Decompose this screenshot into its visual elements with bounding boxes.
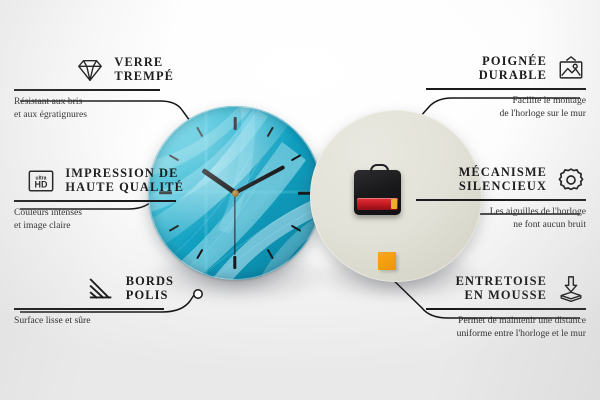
feature-desc-line-1: Les aiguilles de l'horloge	[416, 205, 586, 219]
feature-title-line-2: EN MOUSSE	[456, 289, 547, 303]
product-infographic: VERRE TREMPÉ Résistant aux bris et aux é…	[0, 0, 600, 400]
battery	[357, 198, 398, 210]
feature-verre-trempe: VERRE TREMPÉ Résistant aux bris et aux é…	[14, 56, 174, 122]
picture-hanger-icon	[556, 55, 586, 83]
feature-desc-line-1: Résistant aux bris	[14, 95, 174, 109]
feature-title-line-1: IMPRESSION DE	[65, 167, 184, 181]
ultra-hd-icon-bottom-text: HD	[35, 180, 48, 190]
feature-desc-line-1: Couleurs intenses	[14, 206, 184, 220]
feature-title-line-2: HAUTE QUALITÉ	[65, 181, 184, 195]
feature-desc-line-2: uniforme entre l'horloge et le mur	[426, 327, 586, 341]
gear-icon	[556, 166, 586, 194]
feature-rule	[416, 199, 586, 201]
feature-title-line-2: DURABLE	[479, 69, 547, 83]
feature-rule	[14, 89, 160, 91]
feature-desc-line-1: Surface lisse et sûre	[14, 314, 174, 328]
diamond-icon	[75, 56, 105, 84]
feature-desc-line-1: Facilite le montage	[426, 94, 586, 108]
feature-desc-line-2: et aux égratignures	[14, 108, 174, 122]
feature-rule	[426, 308, 586, 310]
battery-positive-tip	[391, 199, 397, 209]
feature-rule	[14, 308, 164, 310]
feature-rule	[426, 88, 586, 90]
feature-title-line-1: VERRE	[114, 56, 174, 70]
feature-title-line-1: MÉCANISME	[459, 166, 547, 180]
clock-mechanism	[354, 170, 401, 215]
feature-title-line-2: TREMPÉ	[114, 70, 174, 84]
feature-entretoise-en-mousse: ENTRETOISE EN MOUSSE Permet de maintenir…	[426, 275, 586, 341]
polished-edges-icon	[87, 275, 117, 303]
hand-cap	[232, 190, 239, 197]
feature-impression-haute-qualite: ultra HD IMPRESSION DE HAUTE QUALITÉ Cou…	[14, 167, 184, 233]
feature-desc-line-2: de l'horloge sur le mur	[426, 107, 586, 121]
feature-title-line-1: POIGNÉE	[479, 55, 547, 69]
wire-dot-bords	[194, 290, 202, 298]
hanger-loop	[370, 164, 389, 175]
feature-poignee-durable: POIGNÉE DURABLE Facilite le montage de l…	[426, 55, 586, 121]
feature-mecanisme-silencieux: MÉCANISME SILENCIEUX Les aiguilles de l'…	[416, 166, 586, 232]
ultra-hd-icon: ultra HD	[26, 167, 56, 195]
foam-spacer-pad	[378, 252, 396, 270]
feature-bords-polis: BORDS POLIS Surface lisse et sûre	[14, 275, 174, 327]
feature-title-line-1: BORDS	[126, 275, 174, 289]
feature-desc-line-2: ne font aucun bruit	[416, 218, 586, 232]
foam-spacer-icon	[556, 275, 586, 303]
feature-desc-line-2: et image claire	[14, 219, 184, 233]
feature-title-line-2: SILENCIEUX	[459, 180, 547, 194]
feature-rule	[14, 200, 176, 202]
feature-desc-line-1: Permet de maintenir une distance	[426, 314, 586, 328]
feature-title-line-1: ENTRETOISE	[456, 275, 547, 289]
feature-title-line-2: POLIS	[126, 289, 174, 303]
